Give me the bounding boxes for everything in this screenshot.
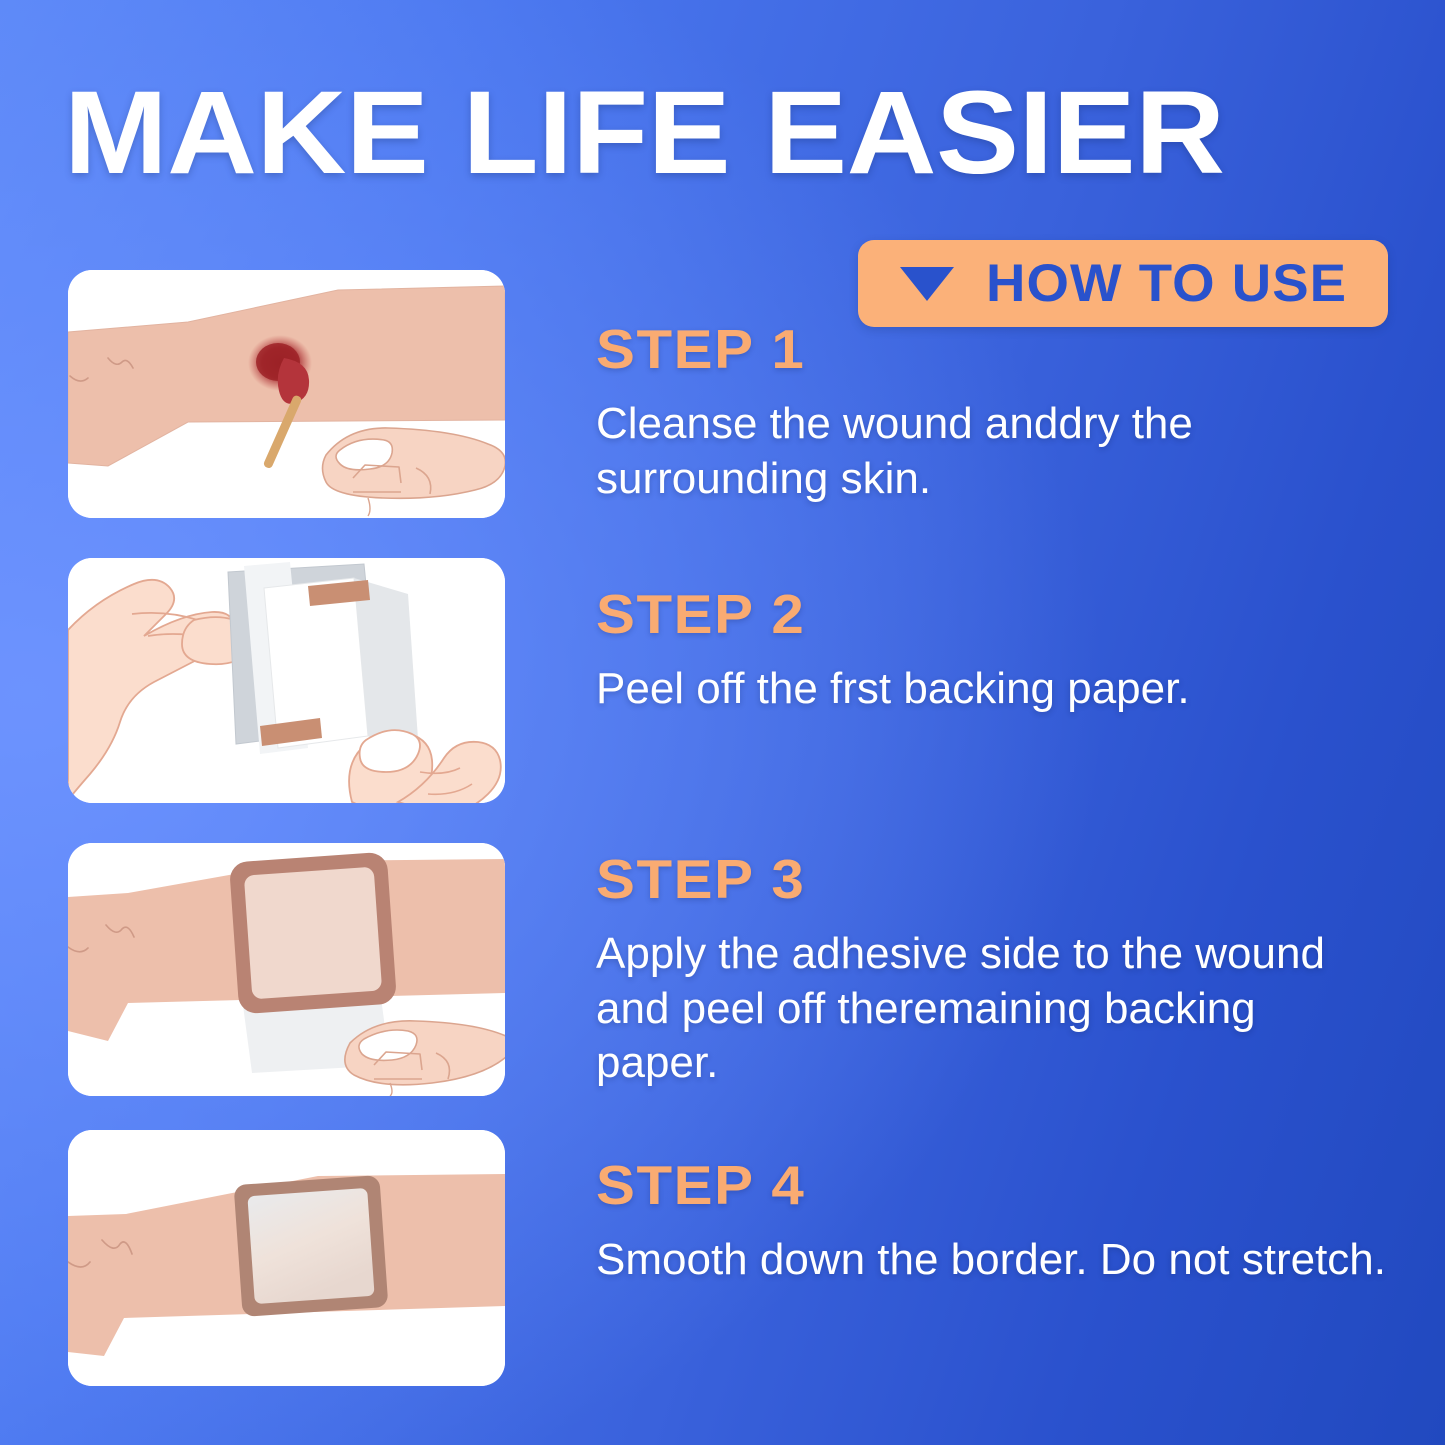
step-4-body: Smooth down the border. Do not stretch. bbox=[596, 1233, 1386, 1288]
step-3-label: STEP 3 bbox=[596, 852, 1433, 907]
how-to-use-label: HOW TO USE bbox=[986, 253, 1347, 314]
dressing-smoothed-on-arm-icon bbox=[68, 1130, 505, 1386]
how-to-use-badge[interactable]: HOW TO USE bbox=[858, 240, 1388, 327]
step-1-illustration-card bbox=[68, 270, 505, 518]
step-2-body: Peel off the frst backing paper. bbox=[596, 662, 1386, 717]
step-4-illustration-card bbox=[68, 1130, 505, 1386]
step-4-text-block: STEP 4 Smooth down the border. Do not st… bbox=[596, 1158, 1386, 1288]
page-title: MAKE LIFE EASIER bbox=[64, 74, 1445, 192]
step-1-text-block: STEP 1 Cleanse the wound anddry the surr… bbox=[596, 322, 1386, 506]
step-2-illustration-card bbox=[68, 558, 505, 803]
step-3-body: Apply the adhesive side to the wound and… bbox=[596, 927, 1386, 1091]
dressing-applied-to-arm-icon bbox=[68, 843, 505, 1096]
hands-peeling-backing-paper-icon bbox=[68, 558, 505, 803]
step-3-illustration-card bbox=[68, 843, 505, 1096]
step-1-body: Cleanse the wound anddry the surrounding… bbox=[596, 397, 1386, 506]
triangle-down-icon bbox=[900, 267, 954, 301]
arm-with-wound-and-cotton-swab-icon bbox=[68, 270, 505, 518]
poster-canvas: MAKE LIFE EASIER HOW TO USE STEP 1 Clean… bbox=[0, 0, 1445, 1445]
step-4-label: STEP 4 bbox=[596, 1158, 1433, 1213]
step-2-text-block: STEP 2 Peel off the frst backing paper. bbox=[596, 587, 1386, 717]
step-2-label: STEP 2 bbox=[596, 587, 1433, 642]
step-1-label: STEP 1 bbox=[596, 322, 1433, 377]
step-3-text-block: STEP 3 Apply the adhesive side to the wo… bbox=[596, 852, 1386, 1091]
